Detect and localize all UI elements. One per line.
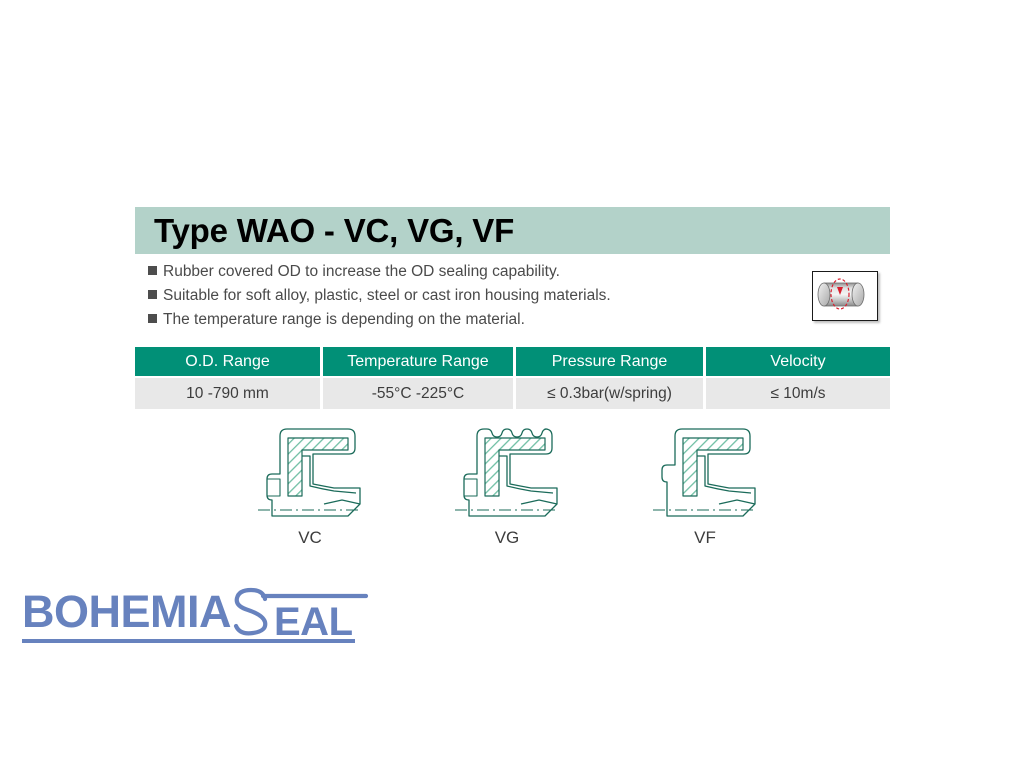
column-header-temperature-range: Temperature Range	[323, 347, 513, 376]
table-row: 10 -790 mm -55°C -225°C ≤ 0.3bar(w/sprin…	[135, 378, 890, 409]
seal-cross-section-vg-icon	[447, 422, 567, 522]
seal-figure-vc: VC	[235, 422, 385, 548]
table-header-row: O.D. Range Temperature Range Pressure Ra…	[135, 347, 890, 376]
rotating-shaft-icon	[813, 272, 874, 317]
seal-label-vf: VF	[630, 528, 780, 548]
seal-cross-section-vf-icon	[645, 422, 765, 522]
logo-word-bohemia: BOHEMIA	[22, 586, 231, 637]
column-header-pressure-range: Pressure Range	[516, 347, 703, 376]
list-item: The temperature range is depending on th…	[148, 311, 788, 335]
seal-cross-section-vc-icon	[250, 422, 370, 522]
feature-text: The temperature range is depending on th…	[163, 311, 525, 329]
logo-word-eal: EAL	[274, 600, 353, 644]
cell-pressure-range: ≤ 0.3bar(w/spring)	[516, 378, 703, 409]
seal-figure-vf: VF	[630, 422, 780, 548]
square-bullet-icon	[148, 290, 157, 299]
cell-od-range: 10 -790 mm	[135, 378, 320, 409]
seal-label-vg: VG	[432, 528, 582, 548]
square-bullet-icon	[148, 266, 157, 275]
column-header-velocity: Velocity	[706, 347, 890, 376]
brand-logo: BOHEMIA EAL	[18, 583, 418, 645]
cell-velocity: ≤ 10m/s	[706, 378, 890, 409]
seal-label-vc: VC	[235, 528, 385, 548]
page-title: Type WAO - VC, VG, VF	[154, 212, 514, 250]
logo-letter-s	[236, 590, 265, 633]
list-item: Suitable for soft alloy, plastic, steel …	[148, 287, 788, 311]
bohemia-seal-logo-icon: BOHEMIA EAL	[18, 583, 418, 645]
spec-table: O.D. Range Temperature Range Pressure Ra…	[135, 347, 890, 409]
seal-figure-vg: VG	[432, 422, 582, 548]
cell-temperature-range: -55°C -225°C	[323, 378, 513, 409]
title-band: Type WAO - VC, VG, VF	[135, 207, 890, 254]
column-header-od-range: O.D. Range	[135, 347, 320, 376]
feature-list: Rubber covered OD to increase the OD sea…	[148, 263, 788, 335]
feature-text: Suitable for soft alloy, plastic, steel …	[163, 287, 611, 305]
rotating-shaft-icon-box	[812, 271, 878, 321]
feature-text: Rubber covered OD to increase the OD sea…	[163, 263, 560, 281]
list-item: Rubber covered OD to increase the OD sea…	[148, 263, 788, 287]
square-bullet-icon	[148, 314, 157, 323]
